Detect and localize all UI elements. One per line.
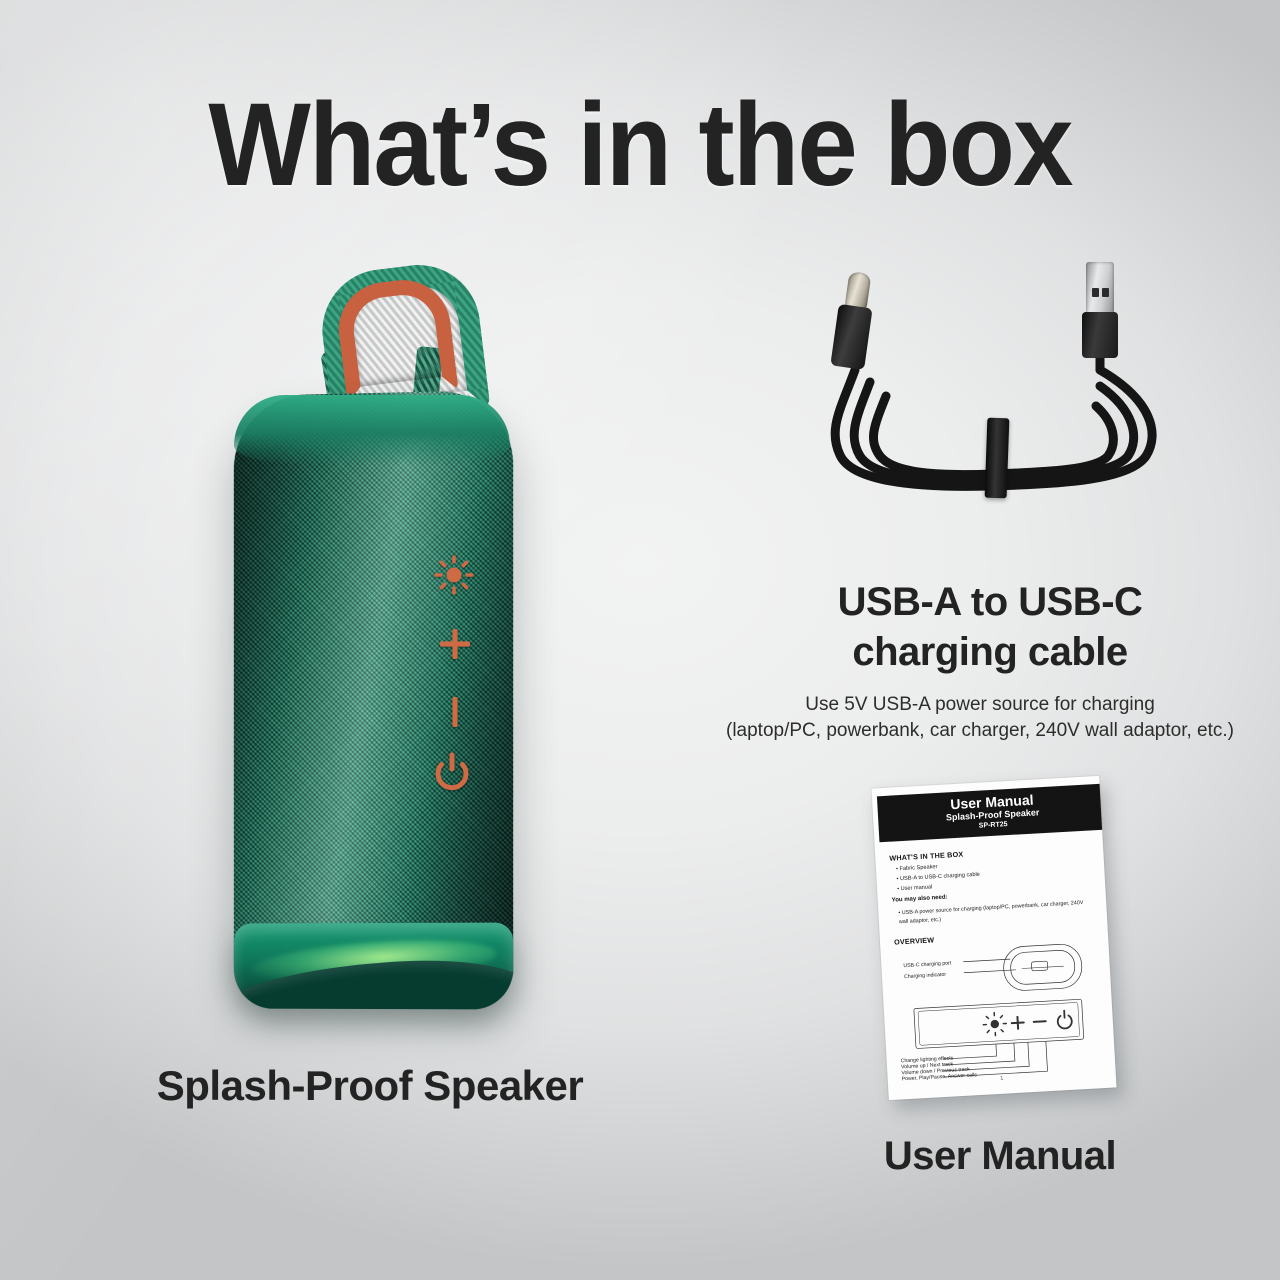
- charging-cable-image: [800, 250, 1220, 550]
- manual-cover-header: User Manual Splash-Proof Speaker SP-RT25: [877, 784, 1108, 843]
- manual-page: User Manual Splash-Proof Speaker SP-RT25…: [871, 776, 1116, 1100]
- carry-strap: [306, 255, 466, 405]
- cable-note-line1: Use 5V USB-A power source for charging: [680, 692, 1280, 718]
- cable-note: Use 5V USB-A power source for charging (…: [680, 692, 1280, 743]
- usb-a-housing: [1082, 312, 1118, 358]
- cable-label: USB-A to USB-C charging cable: [700, 578, 1280, 677]
- lighting-effects-button[interactable]: [434, 555, 474, 595]
- speaker-product-image: [196, 255, 556, 1045]
- manual-box-items: Fabric Speaker USB-A to USB-C charging c…: [896, 861, 981, 895]
- cable-label-line2: charging cable: [700, 628, 1280, 678]
- infographic-canvas: What’s in the box: [0, 0, 1280, 1280]
- manual-also-need-item: USB-A power source for charging (laptop/…: [898, 899, 1087, 927]
- power-button[interactable]: [432, 751, 472, 791]
- usb-a-connector: [1082, 262, 1118, 374]
- speaker-illuminated-base: [234, 923, 513, 1010]
- cable-velcro-tie: [985, 418, 1010, 499]
- usb-a-tip: [1086, 262, 1114, 316]
- speaker-control-buttons: [428, 555, 508, 805]
- cable-label-line1: USB-A to USB-C: [700, 578, 1280, 628]
- cable-note-line2: (laptop/PC, powerbank, car charger, 240V…: [680, 718, 1280, 744]
- manual-label: User Manual: [790, 1134, 1210, 1179]
- volume-up-button[interactable]: [438, 627, 472, 661]
- manual-also-need-heading: You may also need:: [892, 895, 948, 904]
- volume-down-button[interactable]: [440, 695, 470, 729]
- speaker-top-rim: [234, 395, 510, 465]
- speaker-label: Splash-Proof Speaker: [40, 1062, 700, 1110]
- user-manual-image: User Manual Splash-Proof Speaker SP-RT25…: [880, 782, 1120, 1100]
- page-title: What’s in the box: [51, 86, 1229, 204]
- manual-overview-heading: OVERVIEW: [894, 935, 935, 946]
- manual-box-heading: WHAT'S IN THE BOX: [889, 850, 963, 863]
